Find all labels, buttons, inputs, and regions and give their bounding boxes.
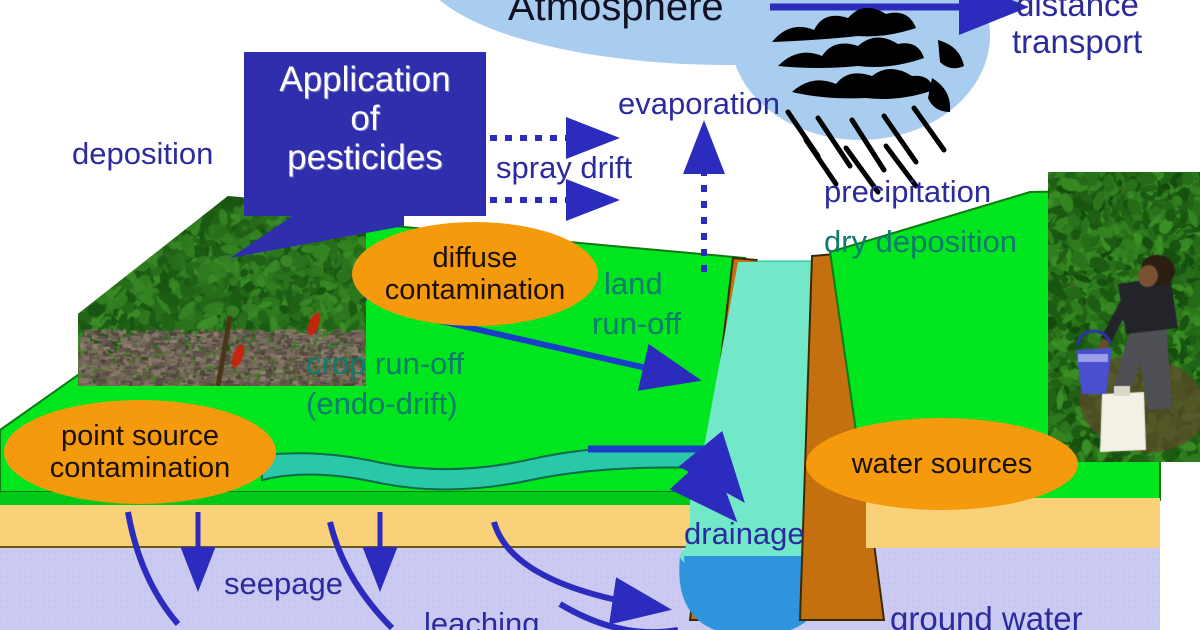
atmosphere-label: Atmosphere [508,0,724,28]
ground-water-label: ground water [890,602,1083,630]
diffuse-line-2: contamination [385,274,566,306]
person-collecting-water-photo [1048,172,1200,462]
point-source-line-2: contamination [50,452,231,484]
crop-runoff-label-line2: (endo-drift) [306,388,458,421]
leaching-label: leaching [424,608,539,630]
water-sources-ellipse: water sources [806,418,1078,510]
precipitation-label: precipitation [824,176,991,209]
callout-line-2: of [254,99,476,138]
water-sources-label: water sources [852,448,1033,480]
point-source-line-1: point source [50,420,231,452]
deposition-label: deposition [72,138,213,171]
dry-deposition-label: dry deposition [824,226,1017,259]
drainage-label: drainage [684,518,805,551]
callout-line-3: pesticides [254,138,476,177]
evaporation-label: evaporation [618,88,780,121]
application-of-pesticides-callout: Application of pesticides [244,52,486,216]
distance-transport-label-line1: distance [1016,0,1139,23]
diagram-canvas: diffuse contamination point source conta… [0,0,1200,630]
distance-transport-label-line2: transport [1012,25,1142,60]
point-source-contamination-ellipse: point source contamination [4,400,276,504]
callout-line-1: Application [254,60,476,99]
land-runoff-label-line2: run-off [592,308,681,341]
seepage-label: seepage [224,568,343,601]
land-runoff-label-line1: land [604,268,663,301]
spray-drift-label: spray drift [496,152,632,185]
crop-runoff-label-line1: crop run-off [306,348,464,381]
diffuse-line-1: diffuse [385,242,566,274]
